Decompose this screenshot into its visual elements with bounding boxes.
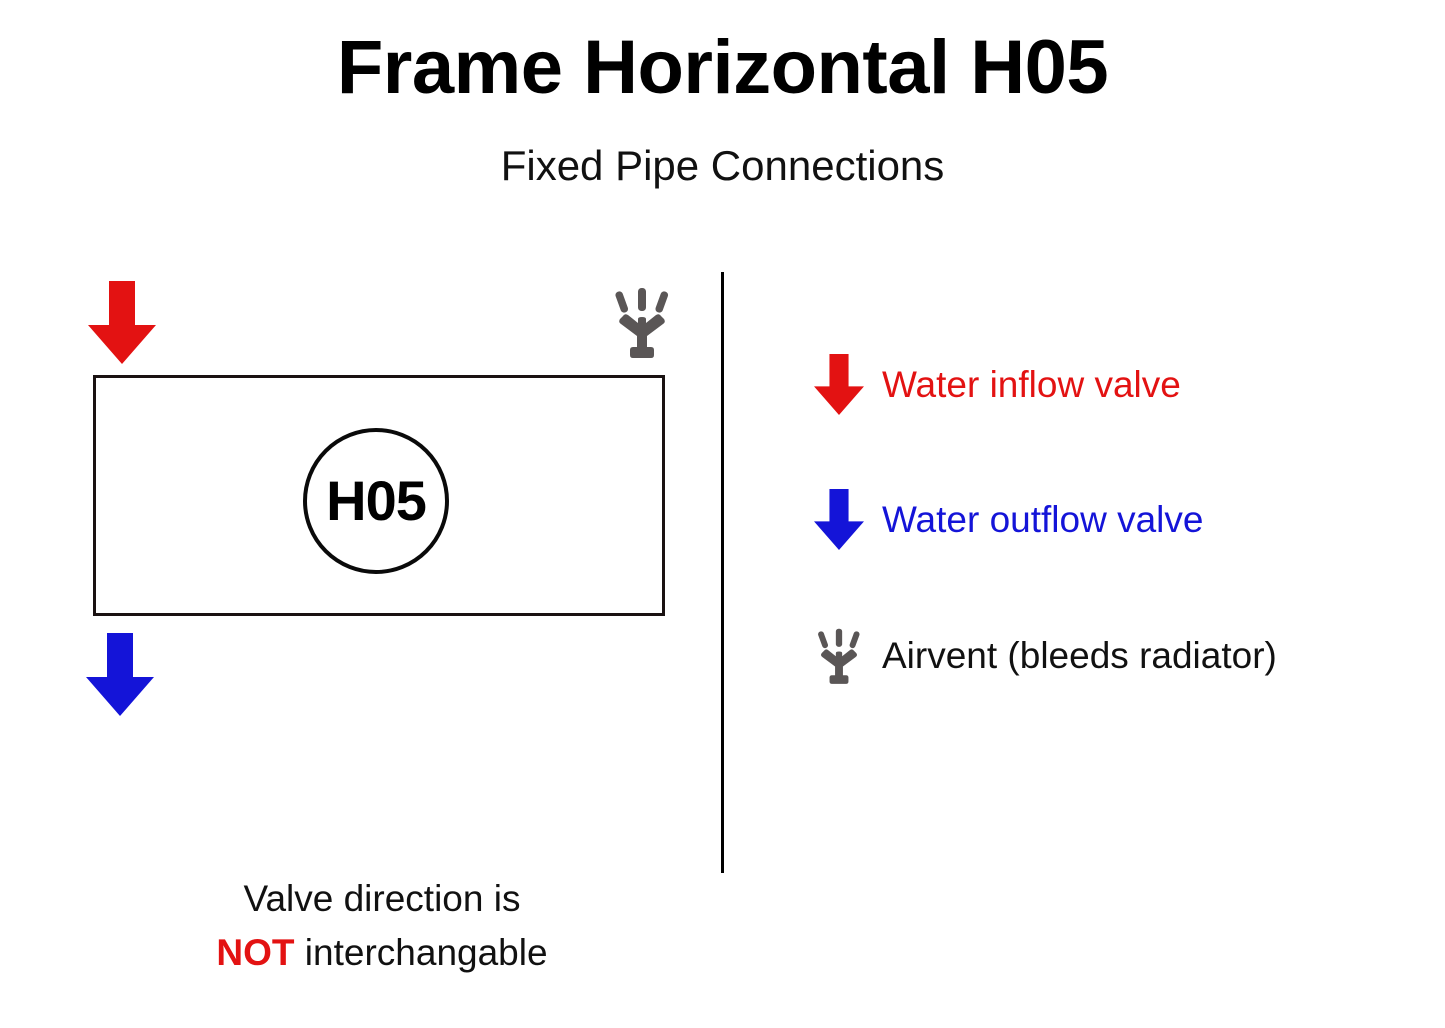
airvent-icon	[609, 286, 675, 358]
water-inflow-arrow	[88, 281, 156, 364]
page-subtitle: Fixed Pipe Connections	[0, 145, 1445, 187]
legend-item-water-inflow: Water inflow valve	[808, 352, 1181, 416]
radiator-id-badge: H05	[303, 428, 449, 574]
caption-line-2-rest: interchangable	[295, 932, 548, 973]
diagram-canvas: Frame Horizontal H05 Fixed Pipe Connecti…	[0, 0, 1445, 1028]
airvent-icon	[808, 624, 870, 686]
legend-label-water-outflow: Water outflow valve	[882, 501, 1203, 538]
legend-item-water-outflow: Water outflow valve	[808, 487, 1203, 551]
water-outflow-arrow	[86, 633, 154, 716]
caption-note: Valve direction is NOT interchangable	[92, 872, 672, 979]
vertical-divider	[721, 272, 724, 873]
radiator-id-label: H05	[326, 473, 426, 529]
legend-label-water-inflow: Water inflow valve	[882, 366, 1181, 403]
caption-line-1: Valve direction is	[92, 872, 672, 926]
down-arrow-icon	[808, 353, 870, 415]
legend-label-airvent: Airvent (bleeds radiator)	[882, 637, 1277, 674]
legend-item-airvent: Airvent (bleeds radiator)	[808, 623, 1277, 687]
page-title: Frame Horizontal H05	[0, 30, 1445, 106]
down-arrow-icon	[808, 488, 870, 550]
caption-line-2: NOT interchangable	[92, 926, 672, 980]
caption-emphasis-not: NOT	[216, 932, 294, 973]
